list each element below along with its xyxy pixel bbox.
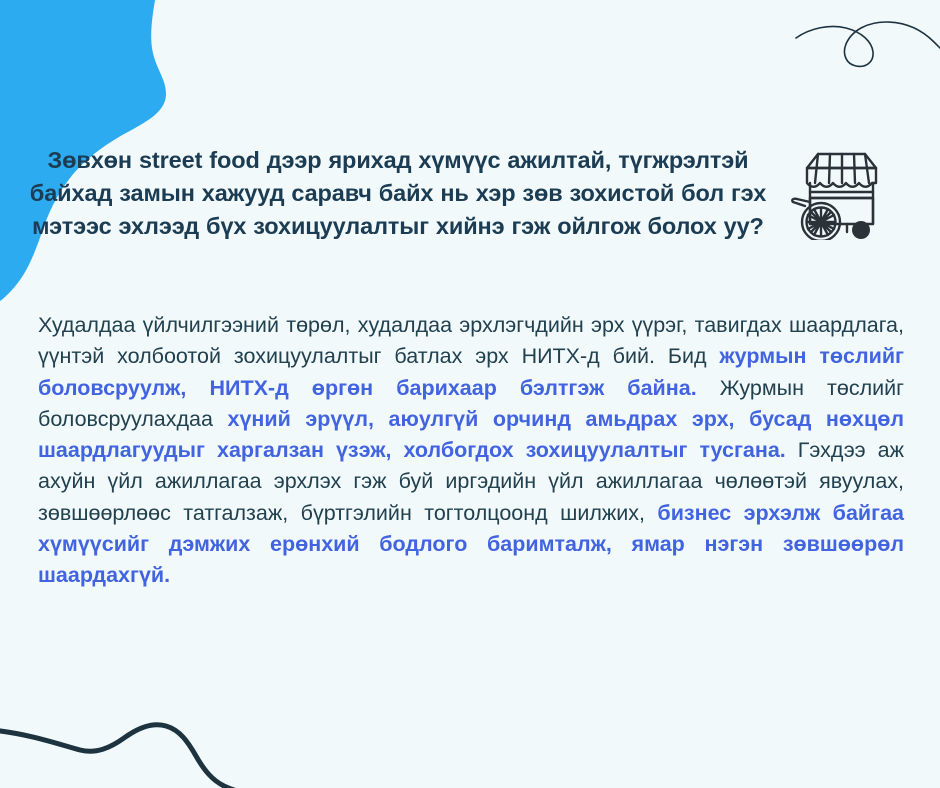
cart-small-wheel	[852, 221, 870, 239]
cart-icon-container	[780, 136, 900, 240]
street-food-cart-icon	[785, 136, 895, 240]
wavy-line	[0, 725, 248, 788]
looping-squiggle-line	[796, 22, 940, 66]
page-title: Зөвхөн street food дээр ярихад хүмүүс аж…	[22, 144, 774, 244]
poster-canvas: Зөвхөн street food дээр ярихад хүмүүс аж…	[0, 0, 940, 788]
body-text-block: Худалдаа үйлчилгээний төрөл, худалдаа эр…	[38, 310, 904, 592]
body-paragraph: Худалдаа үйлчилгээний төрөл, худалдаа эр…	[38, 310, 904, 592]
heading-row: Зөвхөн street food дээр ярихад хүмүүс аж…	[0, 128, 940, 260]
